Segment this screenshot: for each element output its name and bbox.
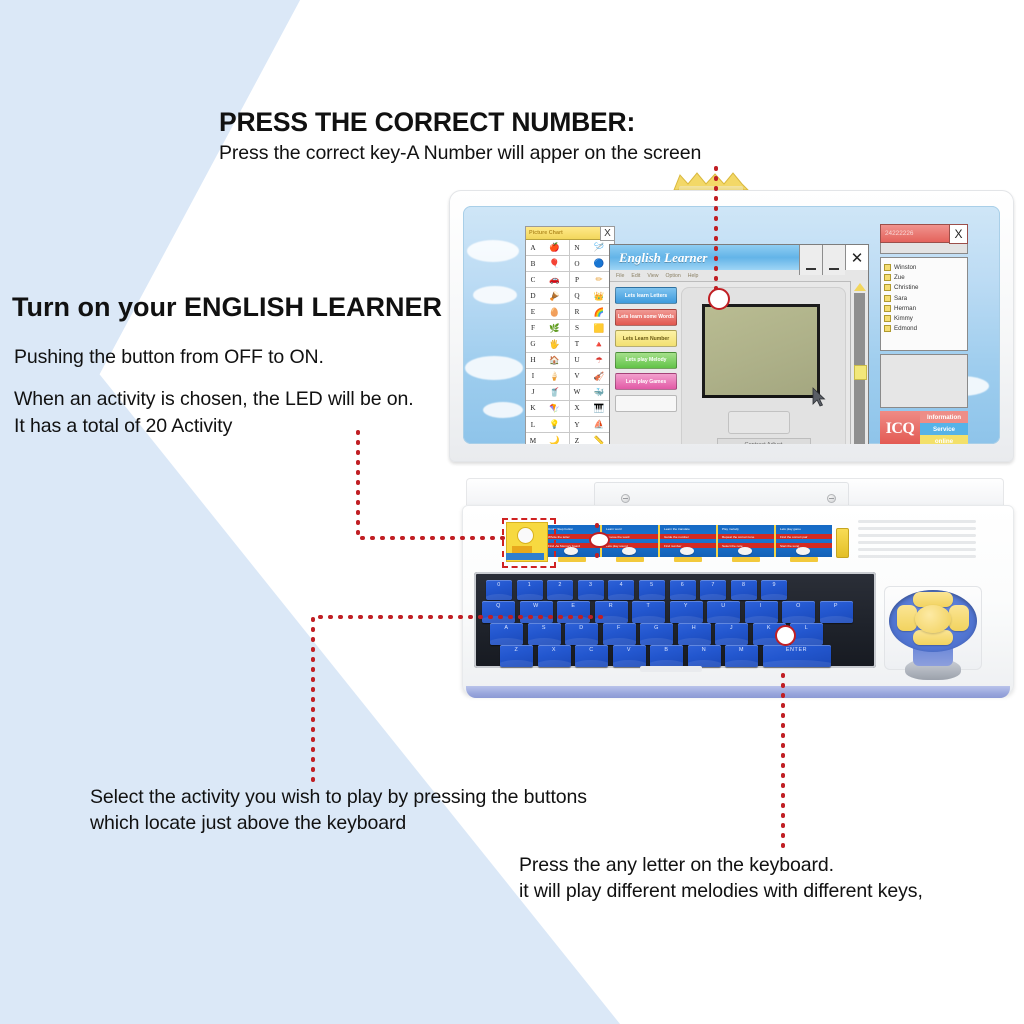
picture-chart-title: Picture Chart (529, 230, 563, 236)
contact-status-icon (884, 284, 891, 291)
activity-separator (658, 525, 660, 557)
icq-contact[interactable]: Christine (884, 283, 964, 293)
picture-chart-row: D🪘 (526, 288, 570, 304)
moon-icon: 🌙 (540, 436, 569, 444)
picture-chart-row: R🌈 (570, 304, 614, 320)
close-button[interactable]: ✕ (845, 245, 868, 270)
contact-name: Winston (894, 264, 916, 271)
activity-label: Start the song (780, 544, 799, 548)
icq-contact[interactable]: Herman (884, 303, 964, 313)
icq-logo: ICQ (880, 411, 920, 444)
learner-button-1[interactable]: Lets learn Letters (615, 287, 677, 304)
icq-contact[interactable]: Kimmy (884, 313, 964, 323)
picture-chart-column-left: A🍎B🎈C🚗D🪘E🥚F🌿G🖐H🏠I🍦J🥤K🪁L💡M🌙 (526, 240, 570, 444)
learner-button-2[interactable]: Lets learn some Words (615, 309, 677, 326)
picture-chart-row: L💡 (526, 417, 570, 433)
icq-tag-list: InformationServiceonline (920, 411, 968, 444)
flower-icon: 🌿 (540, 324, 569, 333)
picture-chart-row: Y⛵ (570, 417, 614, 433)
picture-chart-letter: B (526, 260, 540, 268)
picture-chart-letter: J (526, 388, 540, 396)
key-enter[interactable]: ENTER (763, 645, 831, 667)
icq-contact[interactable]: Edmond (884, 324, 964, 334)
picture-chart-letter: A (526, 244, 540, 252)
icq-contact[interactable]: Zue (884, 272, 964, 282)
picture-chart-letter: D (526, 292, 540, 300)
activity-separator (774, 525, 776, 557)
car-icon: 🚗 (540, 275, 569, 284)
activity-yellow-tab[interactable] (732, 557, 760, 562)
activity-yellow-tab[interactable] (790, 557, 818, 562)
activity-oval-button[interactable] (796, 547, 810, 555)
activity-button-strip[interactable]: Under Step buttonWhole the letterFind th… (542, 525, 832, 557)
icq-tag-online[interactable]: online (920, 435, 968, 444)
lamp-icon: 💡 (540, 420, 569, 429)
activity-oval-button[interactable] (564, 547, 578, 555)
picture-chart-letter: L (526, 421, 540, 429)
house-icon: 🏠 (540, 356, 569, 365)
activity-separator (716, 525, 718, 557)
activity-oval-button[interactable] (622, 547, 636, 555)
key-j[interactable]: J (715, 623, 748, 645)
picture-chart-row: K🪁 (526, 401, 570, 417)
contact-name: Kimmy (894, 315, 913, 322)
picture-chart-letter: Y (570, 421, 584, 429)
learner-button-6[interactable] (615, 395, 677, 412)
key-q[interactable]: Q (482, 601, 515, 623)
drum-icon: 🪘 (540, 292, 569, 301)
learner-button-3[interactable]: Lets Learn Number (615, 330, 677, 347)
activity-label: Lets play game (780, 527, 801, 531)
toy-laptop-photo: Picture Chart X A🍎B🎈C🚗D🪘E🥚F🌿G🖐H🏠I🍦J🥤K🪁L💡… (0, 0, 1024, 1024)
picture-chart-letter: S (570, 324, 584, 332)
picture-chart-row: S🟨 (570, 320, 614, 336)
key-w[interactable]: W (520, 601, 553, 623)
picture-chart-row: V🎻 (570, 369, 614, 385)
key-u[interactable]: U (707, 601, 740, 623)
activity-label: Find the correct pair (780, 535, 808, 539)
picture-chart-row: Q👑 (570, 288, 614, 304)
picture-chart-letter: I (526, 372, 540, 380)
activity-label: Repeat the correct tune (722, 535, 754, 539)
icq-close-icon[interactable]: X (949, 224, 968, 244)
glove-icon: 🖐 (540, 340, 569, 349)
menu-item-view[interactable]: View (647, 273, 658, 279)
window-controls: ✕ (799, 245, 868, 270)
english-learner-window[interactable]: English Learner ✕ FileEditViewOptionHelp… (609, 244, 869, 444)
activity-oval-button[interactable] (680, 547, 694, 555)
key-c[interactable]: C (575, 645, 608, 667)
picture-chart-row: I🍦 (526, 369, 570, 385)
apple-icon: 🍎 (540, 243, 569, 252)
menu-item-help[interactable]: Help (688, 273, 699, 279)
lcd-display (702, 304, 820, 398)
icq-tag-service[interactable]: Service (920, 423, 968, 435)
picture-chart-letter: X (570, 404, 584, 412)
picture-chart-letter: F (526, 324, 540, 332)
key-x[interactable]: X (538, 645, 571, 667)
picture-chart-row: N🪡 (570, 240, 614, 256)
key-9[interactable]: 9 (761, 580, 787, 600)
ice-cream-icon: 🍦 (540, 372, 569, 381)
contact-status-icon (884, 305, 891, 312)
contact-status-icon (884, 315, 891, 322)
contrast-adjust-label: Contrast Adjust (717, 438, 811, 444)
picture-chart-row: U☂ (570, 353, 614, 369)
activity-label: Play melody (722, 527, 739, 531)
activity-label: Learn word (606, 527, 621, 531)
scroll-thumb[interactable] (854, 365, 867, 380)
picture-chart-row: W🐳 (570, 385, 614, 401)
key-0[interactable]: 0 (486, 580, 512, 600)
minimize-button[interactable] (799, 245, 822, 275)
picture-chart-row: T🔺 (570, 337, 614, 353)
picture-chart-row: G🖐 (526, 337, 570, 353)
mouse-cursor-icon (812, 387, 826, 407)
picture-chart-row: J🥤 (526, 385, 570, 401)
icq-toolbar (880, 243, 968, 254)
screw-right (827, 494, 836, 503)
picture-chart-letter: C (526, 276, 540, 284)
picture-chart-letter: Z (570, 437, 584, 444)
power-slider[interactable] (836, 528, 849, 558)
picture-chart-row: B🎈 (526, 256, 570, 272)
icq-number: 24222226 (885, 230, 913, 237)
picture-chart-close-icon[interactable]: X (600, 227, 614, 241)
led-highlight-box (502, 518, 556, 568)
egg-icon: 🥚 (540, 308, 569, 317)
dpad-center[interactable] (915, 605, 951, 633)
scroll-track[interactable] (854, 293, 865, 444)
picture-chart-window[interactable]: Picture Chart X A🍎B🎈C🚗D🪘E🥚F🌿G🖐H🏠I🍦J🥤K🪁L💡… (525, 226, 615, 444)
english-learner-body: Lets learn LettersLets learn some WordsL… (610, 281, 868, 444)
space-bar[interactable] (640, 666, 702, 672)
picture-chart-row: O🔵 (570, 256, 614, 272)
base-front-edge (466, 686, 1010, 698)
key-s[interactable]: S (528, 623, 561, 645)
picture-chart-letter: N (570, 244, 584, 252)
picture-chart-letter: E (526, 308, 540, 316)
kite-icon: 🪁 (540, 404, 569, 413)
marker-key (775, 625, 796, 646)
juice-icon: 🥤 (540, 388, 569, 397)
dpad-left[interactable] (897, 605, 917, 631)
key-8[interactable]: 8 (731, 580, 757, 600)
key-t[interactable]: T (632, 601, 665, 623)
menu-item-option[interactable]: Option (665, 273, 680, 279)
device-illustration: Contrast Adjust (681, 287, 846, 444)
dpad-right[interactable] (949, 605, 969, 631)
laptop-lid: Picture Chart X A🍎B🎈C🚗D🪘E🥚F🌿G🖐H🏠I🍦J🥤K🪁L💡… (449, 190, 1014, 462)
icq-window[interactable]: 24222226 X WinstonZueChristineSaraHerman… (880, 224, 968, 422)
key-3[interactable]: 3 (578, 580, 604, 600)
activity-label: Find number (664, 544, 681, 548)
picture-chart-letter: H (526, 356, 540, 364)
picture-chart-row: F🌿 (526, 320, 570, 336)
contact-name: Edmond (894, 325, 917, 332)
icq-tag-information[interactable]: Information (920, 411, 968, 423)
key-r[interactable]: R (595, 601, 628, 623)
contact-status-icon (884, 325, 891, 332)
key-2[interactable]: 2 (547, 580, 573, 600)
key-z[interactable]: Z (500, 645, 533, 667)
contact-status-icon (884, 295, 891, 302)
key-1[interactable]: 1 (517, 580, 543, 600)
english-learner-title: English Learner (619, 250, 708, 266)
picture-chart-row: X🎹 (570, 401, 614, 417)
lcd-shadow (702, 395, 820, 398)
key-i[interactable]: I (745, 601, 778, 623)
picture-chart-row: P✏ (570, 272, 614, 288)
icq-contact[interactable]: Sara (884, 293, 964, 303)
keyboard-row-bottom[interactable]: ZXCVBNMENTER (500, 645, 835, 667)
picture-chart-letter: V (570, 372, 584, 380)
activity-button-list: Lets learn LettersLets learn some WordsL… (610, 281, 681, 444)
picture-chart-grid: A🍎B🎈C🚗D🪘E🥚F🌿G🖐H🏠I🍦J🥤K🪁L💡M🌙 N🪡O🔵P✏Q👑R🌈S🟨T… (526, 240, 614, 444)
keyboard-row-qwerty[interactable]: QWERTYUIOP (482, 601, 857, 623)
picture-chart-row: M🌙 (526, 433, 570, 444)
menu-item-edit[interactable]: Edit (631, 273, 640, 279)
learner-button-5[interactable]: Lets play Games (615, 373, 677, 390)
learner-button-4[interactable]: Lets play Melody (615, 352, 677, 369)
contact-status-icon (884, 274, 891, 281)
picture-chart-letter: O (570, 260, 584, 268)
key-m[interactable]: M (725, 645, 758, 667)
icq-message-box[interactable] (880, 354, 968, 408)
activity-label: Guide the number (664, 535, 689, 539)
icq-titlebar: 24222226 X (880, 224, 968, 243)
icq-contact[interactable]: Winston (884, 262, 964, 272)
key-b[interactable]: B (650, 645, 683, 667)
key-7[interactable]: 7 (700, 580, 726, 600)
picture-chart-letter: U (570, 356, 584, 364)
key-y[interactable]: Y (670, 601, 703, 623)
contact-name: Zue (894, 274, 905, 281)
picture-chart-letter: P (570, 276, 584, 284)
picture-chart-letter: T (570, 340, 584, 348)
scroll-up-icon[interactable] (854, 283, 866, 291)
screw-left (621, 494, 630, 503)
laptop-screen: Picture Chart X A🍎B🎈C🚗D🪘E🥚F🌿G🖐H🏠I🍦J🥤K🪁L💡… (463, 206, 1000, 444)
marker-lcd (708, 288, 730, 310)
key-g[interactable]: G (640, 623, 673, 645)
picture-chart-row: C🚗 (526, 272, 570, 288)
activity-yellow-tab[interactable] (558, 557, 586, 562)
activity-label: Learn the translate (664, 527, 690, 531)
menu-item-file[interactable]: File (616, 273, 624, 279)
key-v[interactable]: V (613, 645, 646, 667)
key-f[interactable]: F (603, 623, 636, 645)
key-p[interactable]: P (820, 601, 853, 623)
keyboard-number-row[interactable]: 0123456789 (486, 580, 792, 600)
key-a[interactable]: A (490, 623, 523, 645)
key-5[interactable]: 5 (639, 580, 665, 600)
key-n[interactable]: N (688, 645, 721, 667)
activity-yellow-tab[interactable] (616, 557, 644, 562)
english-learner-titlebar: English Learner ✕ (610, 245, 868, 270)
key-h[interactable]: H (678, 623, 711, 645)
contact-name: Sara (894, 295, 907, 302)
icq-contact-list[interactable]: WinstonZueChristineSaraHermanKimmyEdmond (880, 257, 968, 351)
picture-chart-letter: G (526, 340, 540, 348)
icq-footer: ICQ InformationServiceonline (880, 411, 968, 444)
picture-chart-column-right: N🪡O🔵P✏Q👑R🌈S🟨T🔺U☂V🎻W🐳X🎹Y⛵Z📏 (570, 240, 614, 444)
activity-oval-button[interactable] (738, 547, 752, 555)
picture-chart-row: Z📏 (570, 433, 614, 444)
activity-yellow-tab[interactable] (674, 557, 702, 562)
key-e[interactable]: E (557, 601, 590, 623)
picture-chart-row: E🥚 (526, 304, 570, 320)
key-d[interactable]: D (565, 623, 598, 645)
picture-chart-letter: R (570, 308, 584, 316)
picture-chart-row: H🏠 (526, 353, 570, 369)
picture-chart-letter: K (526, 404, 540, 412)
maximize-button[interactable] (822, 245, 845, 275)
marker-activity-button (589, 532, 610, 548)
key-4[interactable]: 4 (608, 580, 634, 600)
contact-name: Christine (894, 284, 918, 291)
balloon-icon: 🎈 (540, 259, 569, 268)
picture-chart-letter: W (570, 388, 584, 396)
key-6[interactable]: 6 (670, 580, 696, 600)
key-o[interactable]: O (782, 601, 815, 623)
contact-status-icon (884, 264, 891, 271)
picture-chart-letter: M (526, 437, 540, 444)
speaker-vent (858, 520, 976, 568)
contact-name: Herman (894, 305, 916, 312)
scrollbar[interactable] (850, 281, 868, 444)
picture-chart-letter: Q (570, 292, 584, 300)
lcd-button[interactable] (728, 411, 790, 434)
picture-chart-row: A🍎 (526, 240, 570, 256)
